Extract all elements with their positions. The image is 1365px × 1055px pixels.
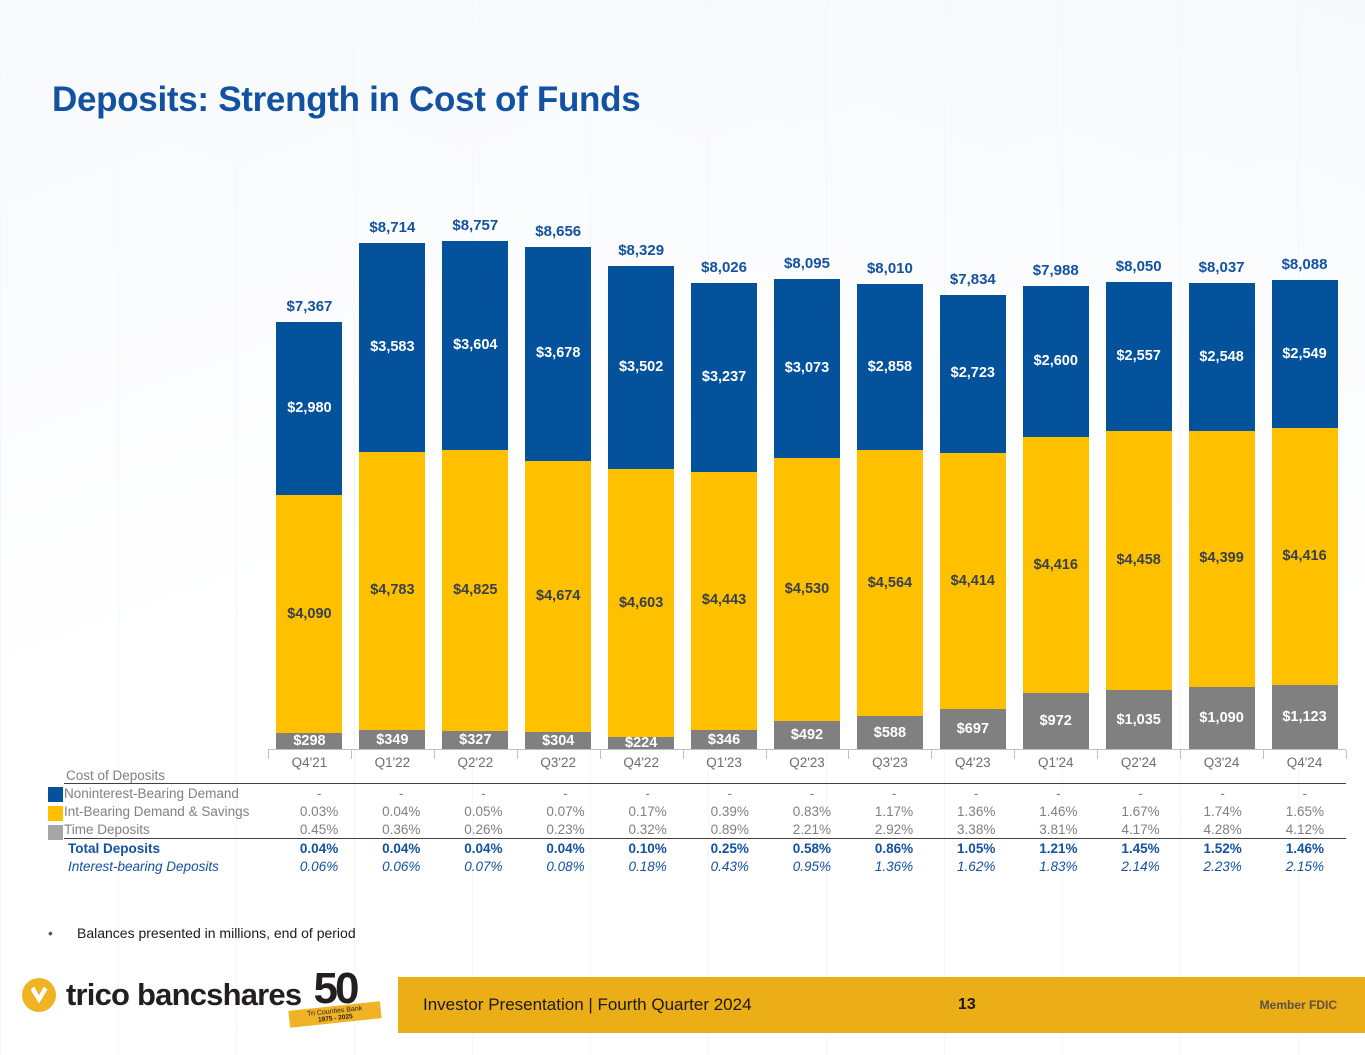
table-cell: 1.67% [1099, 802, 1181, 820]
bar-segment-label: $4,414 [951, 574, 995, 589]
legend-swatch-time-deposits [48, 825, 63, 840]
bar-total-label: $8,757 [452, 217, 498, 234]
footer-fdic-notice: Member FDIC [1260, 998, 1337, 1012]
table-cell: 0.06% [360, 857, 442, 875]
chart-column: $2,548$4,399$1,090$8,037 [1180, 200, 1263, 750]
bar-segment-time-deposits: $1,123 [1272, 685, 1338, 750]
chart-column: $3,583$4,783$349$8,714 [351, 200, 434, 750]
bar-segment-int-bearing: $4,564 [857, 450, 923, 715]
bar-segment-label: $304 [542, 734, 574, 749]
bar-segment-noninterest-bearing: $3,583 [359, 243, 425, 451]
cost-of-deposits-grid: Noninterest-Bearing Demand-------------I… [64, 783, 1346, 875]
bar-segment-label: $3,583 [370, 340, 414, 355]
bar-segment-int-bearing: $4,416 [1272, 428, 1338, 685]
bar-segment-label: $972 [1040, 714, 1072, 729]
table-cell: 0.10% [607, 839, 689, 858]
table-cell: - [1099, 784, 1181, 803]
table-row: Total Deposits0.04%0.04%0.04%0.04%0.10%0… [64, 839, 1346, 858]
bar-segment-label: $2,858 [868, 360, 912, 375]
stacked-bar[interactable]: $2,980$4,090$298 [276, 322, 342, 750]
bar-segment-label: $4,783 [370, 583, 414, 598]
bar-segment-label: $4,458 [1116, 553, 1160, 568]
bar-segment-noninterest-bearing: $3,678 [525, 247, 591, 461]
table-cell: 1.45% [1099, 839, 1181, 858]
bar-segment-label: $4,825 [453, 583, 497, 598]
bar-segment-int-bearing: $4,090 [276, 495, 342, 733]
table-cell: 1.62% [935, 857, 1017, 875]
company-wordmark: trico bancshares [66, 977, 301, 1013]
bar-total-label: $7,367 [287, 298, 333, 315]
bar-segment-label: $4,564 [868, 576, 912, 591]
bar-segment-label: $2,548 [1199, 350, 1243, 365]
table-cell: 2.21% [771, 820, 853, 839]
stacked-bar[interactable]: $2,723$4,414$697 [940, 295, 1006, 750]
table-cell: 0.36% [360, 820, 442, 839]
bar-segment-label: $4,530 [785, 582, 829, 597]
bar-segment-label: $298 [293, 734, 325, 749]
bar-segment-time-deposits: $349 [359, 730, 425, 750]
chart-column: $2,557$4,458$1,035$8,050 [1097, 200, 1180, 750]
chart-column: $2,549$4,416$1,123$8,088 [1263, 200, 1346, 750]
table-cell: - [935, 784, 1017, 803]
bar-total-label: $8,095 [784, 255, 830, 272]
bar-segment-time-deposits: $346 [691, 730, 757, 750]
table-row-label: Total Deposits [64, 839, 278, 858]
bar-segment-label: $2,549 [1282, 347, 1326, 362]
anniversary-badge: 50 Tri Counties Bank 1975 - 2025 [289, 968, 381, 1040]
table-cell: 0.95% [771, 857, 853, 875]
bar-segment-label: $3,678 [536, 346, 580, 361]
table-cell: 0.18% [607, 857, 689, 875]
bar-segment-label: $3,237 [702, 370, 746, 385]
footer-presentation-title: Investor Presentation | Fourth Quarter 2… [423, 995, 752, 1015]
bar-segment-noninterest-bearing: $3,073 [774, 279, 840, 458]
table-cell: 2.14% [1099, 857, 1181, 875]
bar-segment-time-deposits: $492 [774, 721, 840, 750]
legend-swatch-noninterest-bearing [48, 787, 63, 802]
table-cell: 0.45% [278, 820, 360, 839]
bar-segment-int-bearing: $4,416 [1023, 437, 1089, 694]
table-cell: 0.25% [689, 839, 771, 858]
bar-segment-int-bearing: $4,783 [359, 452, 425, 730]
legend-swatches [48, 787, 63, 844]
table-cell: 0.04% [360, 802, 442, 820]
stacked-bar[interactable]: $3,237$4,443$346 [691, 283, 757, 750]
table-cell: 0.86% [853, 839, 935, 858]
bar-segment-int-bearing: $4,674 [525, 461, 591, 733]
bar-segment-time-deposits: $327 [442, 731, 508, 750]
stacked-bar[interactable]: $2,549$4,416$1,123 [1272, 280, 1338, 750]
chart-column: $3,678$4,674$304$8,656 [517, 200, 600, 750]
bar-segment-label: $2,600 [1034, 354, 1078, 369]
table-cell: 0.43% [689, 857, 771, 875]
table-cell: - [853, 784, 935, 803]
table-cell: - [689, 784, 771, 803]
bar-total-label: $8,088 [1282, 256, 1328, 273]
bar-segment-time-deposits: $304 [525, 732, 591, 750]
bar-segment-label: $492 [791, 728, 823, 743]
table-cell: 0.06% [278, 857, 360, 875]
bar-segment-label: $3,604 [453, 338, 497, 353]
bar-segment-label: $4,443 [702, 593, 746, 608]
table-cell: 1.74% [1182, 802, 1264, 820]
bar-segment-int-bearing: $4,458 [1106, 431, 1172, 690]
footer-bar: Investor Presentation | Fourth Quarter 2… [398, 977, 1365, 1033]
table-cell: 1.52% [1182, 839, 1264, 858]
bar-segment-label: $1,090 [1199, 711, 1243, 726]
stacked-bar[interactable]: $2,858$4,564$588 [857, 284, 923, 750]
bar-segment-noninterest-bearing: $2,723 [940, 295, 1006, 453]
bar-segment-label: $3,073 [785, 361, 829, 376]
bar-segment-label: $2,980 [287, 401, 331, 416]
chart-column: $2,980$4,090$298$7,367 [268, 200, 351, 750]
bar-total-label: $8,329 [618, 242, 664, 259]
table-row: Int-Bearing Demand & Savings0.03%0.04%0.… [64, 802, 1346, 820]
bar-segment-label: $4,674 [536, 589, 580, 604]
cost-of-deposits-title: Cost of Deposits [64, 768, 1346, 783]
bar-segment-int-bearing: $4,603 [608, 469, 674, 737]
trico-tulip-icon [22, 978, 56, 1012]
bar-segment-int-bearing: $4,443 [691, 472, 757, 730]
footer-page-number: 13 [958, 996, 976, 1014]
table-cell: 0.04% [442, 839, 524, 858]
table-cell: 4.17% [1099, 820, 1181, 839]
table-cell: 0.32% [607, 820, 689, 839]
bar-segment-time-deposits: $1,035 [1106, 690, 1172, 750]
bar-segment-noninterest-bearing: $2,980 [276, 322, 342, 495]
company-logo: trico bancshares [22, 977, 301, 1013]
bar-segment-label: $4,090 [287, 607, 331, 622]
cost-of-deposits-table: Cost of Deposits Noninterest-Bearing Dem… [64, 768, 1346, 875]
bar-segment-label: $349 [376, 733, 408, 748]
bar-segment-label: $1,035 [1116, 713, 1160, 728]
bar-total-label: $7,834 [950, 271, 996, 288]
bar-segment-time-deposits: $972 [1023, 693, 1089, 750]
page-title: Deposits: Strength in Cost of Funds [52, 80, 640, 120]
bar-segment-label: $4,399 [1199, 551, 1243, 566]
table-cell: - [1264, 784, 1346, 803]
table-row-label: Time Deposits [64, 820, 278, 839]
table-cell: 2.92% [853, 820, 935, 839]
table-cell: - [524, 784, 606, 803]
table-row: Interest-bearing Deposits0.06%0.06%0.07%… [64, 857, 1346, 875]
table-cell: 0.23% [524, 820, 606, 839]
table-row-label: Int-Bearing Demand & Savings [64, 802, 278, 820]
chart-column: $3,073$4,530$492$8,095 [766, 200, 849, 750]
table-cell: - [771, 784, 853, 803]
bar-segment-time-deposits: $1,090 [1189, 687, 1255, 750]
table-cell: 0.08% [524, 857, 606, 875]
table-cell: 0.58% [771, 839, 853, 858]
bar-segment-label: $2,557 [1116, 349, 1160, 364]
table-cell: - [442, 784, 524, 803]
legend-swatch-int-bearing [48, 806, 63, 821]
table-cell: 0.07% [442, 857, 524, 875]
chart-column: $3,604$4,825$327$8,757 [434, 200, 517, 750]
table-cell: - [360, 784, 442, 803]
table-row: Noninterest-Bearing Demand------------- [64, 784, 1346, 803]
table-cell: 0.04% [278, 839, 360, 858]
bar-segment-int-bearing: $4,414 [940, 453, 1006, 710]
table-row: Time Deposits0.45%0.36%0.26%0.23%0.32%0.… [64, 820, 1346, 839]
table-cell: 1.05% [935, 839, 1017, 858]
bar-segment-time-deposits: $298 [276, 733, 342, 750]
bar-segment-noninterest-bearing: $3,502 [608, 266, 674, 470]
bar-segment-int-bearing: $4,825 [442, 450, 508, 731]
table-cell: - [1017, 784, 1099, 803]
stacked-bar[interactable]: $3,502$4,603$224 [608, 266, 674, 750]
table-cell: 0.03% [278, 802, 360, 820]
bar-segment-label: $4,603 [619, 596, 663, 611]
bar-total-label: $8,010 [867, 260, 913, 277]
bar-segment-noninterest-bearing: $2,549 [1272, 280, 1338, 428]
footnote-bullet-icon: • [48, 925, 53, 941]
bar-segment-time-deposits: $697 [940, 709, 1006, 750]
chart-column: $2,723$4,414$697$7,834 [931, 200, 1014, 750]
chart-column: $3,502$4,603$224$8,329 [600, 200, 683, 750]
table-cell: - [1182, 784, 1264, 803]
table-cell: 4.28% [1182, 820, 1264, 839]
table-row-label: Noninterest-Bearing Demand [64, 784, 278, 803]
table-cell: 0.04% [524, 839, 606, 858]
footnote-text: Balances presented in millions, end of p… [77, 925, 356, 941]
table-cell: 3.38% [935, 820, 1017, 839]
bar-segment-label: $327 [459, 733, 491, 748]
stacked-bar[interactable]: $3,583$4,783$349 [359, 243, 425, 750]
stacked-bar[interactable]: $2,600$4,416$972 [1023, 286, 1089, 750]
chart-column: $2,600$4,416$972$7,988 [1014, 200, 1097, 750]
table-cell: 0.26% [442, 820, 524, 839]
bar-segment-noninterest-bearing: $2,858 [857, 284, 923, 450]
axis-tick [1346, 750, 1347, 759]
bar-segment-label: $4,416 [1034, 558, 1078, 573]
bar-segment-label: $346 [708, 733, 740, 748]
bar-total-label: $8,656 [535, 223, 581, 240]
stacked-bar[interactable]: $3,678$4,674$304 [525, 247, 591, 750]
bar-total-label: $8,050 [1116, 258, 1162, 275]
bar-segment-noninterest-bearing: $2,548 [1189, 283, 1255, 431]
table-cell: 0.05% [442, 802, 524, 820]
bar-segment-noninterest-bearing: $3,237 [691, 283, 757, 471]
table-cell: 1.65% [1264, 802, 1346, 820]
stacked-bar[interactable]: $2,548$4,399$1,090 [1189, 283, 1255, 750]
stacked-bar[interactable]: $2,557$4,458$1,035 [1106, 282, 1172, 750]
bar-segment-int-bearing: $4,399 [1189, 431, 1255, 687]
table-cell: 0.17% [607, 802, 689, 820]
bar-segment-label: $588 [874, 726, 906, 741]
table-cell: - [278, 784, 360, 803]
bar-total-label: $8,037 [1199, 259, 1245, 276]
chart-column: $3,237$4,443$346$8,026 [683, 200, 766, 750]
bar-segment-label: $4,416 [1282, 549, 1326, 564]
table-cell: 0.89% [689, 820, 771, 839]
table-cell: 2.23% [1182, 857, 1264, 875]
table-cell: 1.17% [853, 802, 935, 820]
deposits-stacked-bar-chart: $2,980$4,090$298$7,367$3,583$4,783$349$8… [268, 200, 1346, 750]
bar-segment-int-bearing: $4,530 [774, 458, 840, 721]
bar-total-label: $7,988 [1033, 262, 1079, 279]
bar-segment-label: $1,123 [1282, 710, 1326, 725]
table-cell: 0.83% [771, 802, 853, 820]
stacked-bar[interactable]: $3,604$4,825$327 [442, 241, 508, 750]
bar-segment-label: $697 [957, 722, 989, 737]
table-cell: 1.36% [853, 857, 935, 875]
table-cell: 2.15% [1264, 857, 1346, 875]
table-cell: 3.81% [1017, 820, 1099, 839]
table-cell: - [607, 784, 689, 803]
bar-segment-noninterest-bearing: $2,600 [1023, 286, 1089, 437]
table-cell: 0.04% [360, 839, 442, 858]
slide-root: Deposits: Strength in Cost of Funds $2,9… [0, 0, 1365, 1055]
table-cell: 0.07% [524, 802, 606, 820]
bar-segment-noninterest-bearing: $3,604 [442, 241, 508, 451]
table-cell: 1.83% [1017, 857, 1099, 875]
table-cell: 1.21% [1017, 839, 1099, 858]
table-cell: 4.12% [1264, 820, 1346, 839]
footnote: • Balances presented in millions, end of… [48, 925, 356, 941]
table-cell: 1.46% [1017, 802, 1099, 820]
table-cell: 1.36% [935, 802, 1017, 820]
bar-segment-label: $3,502 [619, 360, 663, 375]
bar-segment-time-deposits: $588 [857, 716, 923, 750]
bar-segment-label: $2,723 [951, 366, 995, 381]
bar-segment-noninterest-bearing: $2,557 [1106, 282, 1172, 431]
bar-total-label: $8,026 [701, 259, 747, 276]
bar-total-label: $8,714 [369, 219, 415, 236]
stacked-bar[interactable]: $3,073$4,530$492 [774, 279, 840, 750]
table-cell: 0.39% [689, 802, 771, 820]
table-row-label: Interest-bearing Deposits [64, 857, 278, 875]
chart-column: $2,858$4,564$588$8,010 [848, 200, 931, 750]
table-cell: 1.46% [1264, 839, 1346, 858]
